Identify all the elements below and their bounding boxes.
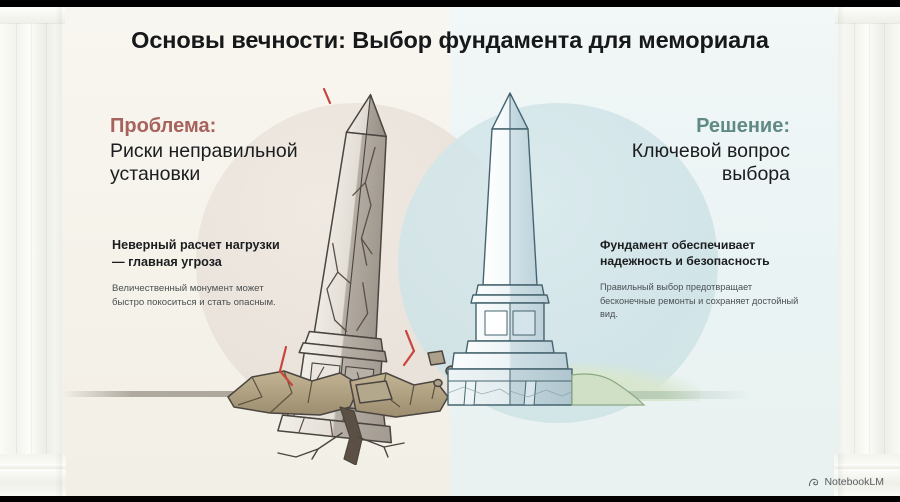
problem-body: Величественный монумент может быстро пок… (112, 282, 287, 309)
solution-subhead: Фундамент обеспечивает надежность и безо… (600, 237, 800, 269)
slide-stage: Основы вечности: Выбор фундамента для ме… (0, 0, 900, 502)
letterbox-bottom (0, 496, 900, 502)
solution-eyebrow: Решение: (560, 115, 790, 139)
page-title: Основы вечности: Выбор фундамента для ме… (0, 27, 900, 54)
watermark-label: NotebookLM (824, 476, 884, 488)
right-heading-block: Решение: Ключевой вопрос выбора (560, 115, 790, 186)
right-column-frame (838, 7, 900, 496)
left-detail-block: Неверный расчет нагрузки — главная угроз… (112, 237, 287, 310)
notebooklm-logo-icon (808, 477, 819, 488)
notebooklm-watermark: NotebookLM (808, 476, 884, 488)
earth-bank (572, 374, 644, 405)
problem-subhead: Неверный расчет нагрузки — главная угроз… (112, 237, 287, 270)
problem-headline: Риски неправильной установки (110, 140, 342, 187)
problem-eyebrow: Проблема: (110, 115, 342, 139)
left-column-frame (0, 7, 62, 496)
left-heading-block: Проблема: Риски неправильной установки (110, 115, 342, 186)
letterbox-top (0, 0, 900, 7)
solution-headline: Ключевой вопрос выбора (560, 140, 790, 187)
solution-body: Правильный выбор предотвращает бесконечн… (600, 281, 800, 320)
right-detail-block: Фундамент обеспечивает надежность и безо… (600, 237, 800, 321)
infographic-slide: Основы вечности: Выбор фундамента для ме… (0, 7, 900, 496)
